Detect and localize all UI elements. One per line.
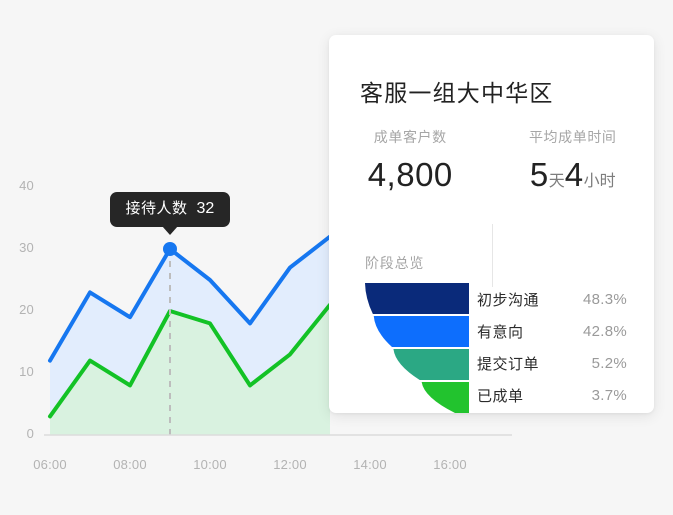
stat-deals-count: 成单客户数 4,800 (329, 127, 492, 191)
funnel-stage-pct: 5.2% (592, 355, 627, 372)
funnel-row[interactable]: 提交订单 5.2% (477, 347, 627, 379)
tooltip-label: 接待人数 (126, 200, 188, 217)
screen: 40 30 20 10 0 06:00 08:00 10:00 12:00 14… (0, 0, 673, 515)
x-axis-tick: 08:00 (100, 457, 160, 472)
stats-row: 成单客户数 4,800 平均成单时间 5天4小时 (329, 127, 654, 191)
funnel-stage-name: 提交订单 (477, 353, 539, 374)
funnel-stage-name: 已成单 (477, 385, 524, 406)
y-axis-tick: 0 (0, 426, 34, 441)
y-axis-tick: 20 (0, 302, 34, 317)
card-title: 客服一组大中华区 (360, 74, 554, 108)
x-axis-tick: 12:00 (260, 457, 320, 472)
funnel-row[interactable]: 初步沟通 48.3% (477, 283, 627, 315)
funnel-segment-0[interactable] (365, 283, 469, 314)
stat-label: 平均成单时间 (492, 127, 655, 147)
stat-avg-deal-time: 平均成单时间 5天4小时 (492, 127, 655, 191)
funnel-stage-pct: 42.8% (583, 323, 627, 340)
funnel-segment-3[interactable] (422, 382, 469, 413)
x-axis-tick: 14:00 (340, 457, 400, 472)
stat-value: 5天4小时 (492, 158, 655, 191)
stats-divider (492, 224, 493, 287)
y-axis-tick: 40 (0, 178, 34, 193)
funnel-stage-pct: 48.3% (583, 291, 627, 308)
funnel-row[interactable]: 已成单 3.7% (477, 379, 627, 411)
y-axis-tick: 10 (0, 364, 34, 379)
summary-card: 客服一组大中华区 成单客户数 4,800 平均成单时间 5天4小时 阶段总览 初… (329, 35, 654, 413)
funnel-heading: 阶段总览 (365, 253, 424, 273)
funnel-stage-pct: 3.7% (592, 387, 627, 404)
stat-label: 成单客户数 (329, 127, 492, 147)
funnel-stage-name: 初步沟通 (477, 289, 539, 310)
stat-hours-number: 4 (565, 156, 584, 193)
x-axis-tick: 10:00 (180, 457, 240, 472)
funnel-segment-2[interactable] (393, 349, 469, 380)
stat-value: 4,800 (329, 158, 492, 191)
y-axis-tick: 30 (0, 240, 34, 255)
chart-tooltip: 接待人数32 (110, 192, 231, 227)
funnel-segment-1[interactable] (374, 316, 469, 347)
funnel-row[interactable]: 有意向 42.8% (477, 315, 627, 347)
tooltip-value: 32 (197, 200, 215, 217)
funnel-legend: 初步沟通 48.3% 有意向 42.8% 提交订单 5.2% 已成单 3.7% (477, 283, 627, 411)
stat-days-number: 5 (530, 156, 549, 193)
funnel-chart[interactable] (365, 283, 469, 414)
funnel-stage-name: 有意向 (477, 321, 524, 342)
highlight-marker-dot[interactable] (163, 242, 177, 256)
x-axis-tick: 16:00 (420, 457, 480, 472)
x-axis-tick: 06:00 (20, 457, 80, 472)
stat-hours-unit: 小时 (584, 173, 616, 190)
stat-days-unit: 天 (549, 173, 565, 190)
